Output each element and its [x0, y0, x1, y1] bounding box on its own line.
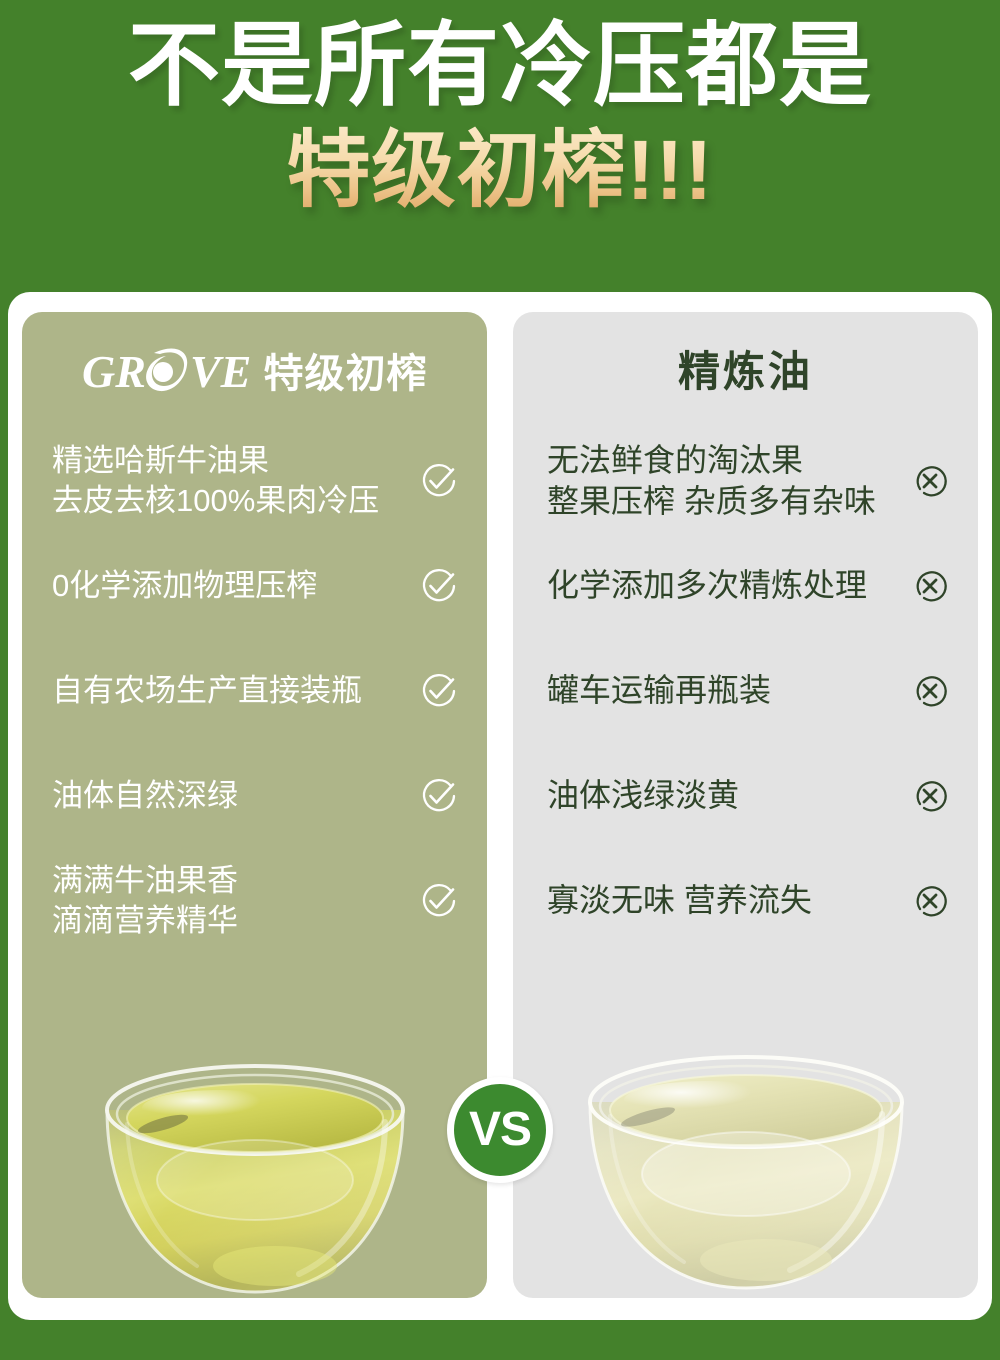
panel-left-title: 特级初榨 — [264, 341, 428, 399]
feature-row: 无法鲜食的淘汰果 整果压榨 杂质多有杂味 — [547, 428, 952, 533]
feature-row: 油体自然深绿 — [52, 743, 461, 848]
x-circle-icon — [908, 669, 952, 713]
check-circle-icon — [417, 669, 461, 713]
feature-text: 满满牛油果香 滴滴营养精华 — [52, 861, 238, 940]
headline-block: 不是所有冷压都是 特级初榨!!! — [0, 0, 1000, 217]
panel-refined-oil: 精炼油 无法鲜食的淘汰果 整果压榨 杂质多有杂味 化学添加多次精炼处理 — [513, 312, 978, 1298]
x-circle-icon — [908, 459, 952, 503]
bowl-area-right — [513, 1028, 978, 1298]
feature-text: 油体浅绿淡黄 — [547, 775, 739, 816]
pale-refined-oil-bowl — [566, 1042, 926, 1298]
feature-row: 自有农场生产直接装瓶 — [52, 638, 461, 743]
svg-text:VE: VE — [190, 346, 251, 397]
headline-line-1: 不是所有冷压都是 — [0, 14, 1000, 119]
bowl-area-left — [22, 1028, 487, 1298]
feature-row: 油体浅绿淡黄 — [547, 743, 952, 848]
x-circle-icon — [908, 774, 952, 818]
feature-row: 满满牛油果香 滴滴营养精华 — [52, 848, 461, 953]
x-circle-icon — [908, 879, 952, 923]
feature-list-right: 无法鲜食的淘汰果 整果压榨 杂质多有杂味 化学添加多次精炼处理 — [513, 424, 978, 1028]
versus-badge: VS — [447, 1077, 553, 1183]
feature-text: 0化学添加物理压榨 — [52, 566, 317, 606]
feature-row: 寡淡无味 营养流失 — [547, 848, 952, 953]
panel-extra-virgin: GR VE 特级初榨 精选哈斯牛油果 去皮去核100%果肉冷压 — [22, 312, 487, 1298]
panel-left-header: GR VE 特级初榨 — [22, 312, 487, 424]
green-olive-oil-bowl — [85, 1052, 425, 1298]
panel-right-title: 精炼油 — [678, 338, 813, 399]
check-circle-icon — [417, 564, 461, 608]
feature-text: 化学添加多次精炼处理 — [547, 565, 867, 606]
headline-line-2: 特级初榨!!! — [0, 123, 1000, 217]
brand-row: GR VE 特级初榨 — [82, 341, 428, 399]
feature-text: 油体自然深绿 — [52, 776, 238, 816]
check-circle-icon — [417, 774, 461, 818]
feature-text: 无法鲜食的淘汰果 整果压榨 杂质多有杂味 — [547, 440, 876, 522]
feature-text: 寡淡无味 营养流失 — [547, 880, 812, 921]
svg-text:GR: GR — [82, 346, 146, 397]
feature-row: 精选哈斯牛油果 去皮去核100%果肉冷压 — [52, 428, 461, 533]
feature-text: 自有农场生产直接装瓶 — [52, 671, 362, 711]
x-circle-icon — [908, 564, 952, 608]
check-circle-icon — [417, 879, 461, 923]
feature-row: 化学添加多次精炼处理 — [547, 533, 952, 638]
grove-logo: GR VE — [82, 341, 252, 399]
feature-row: 0化学添加物理压榨 — [52, 533, 461, 638]
panel-right-header: 精炼油 — [513, 312, 978, 424]
feature-list-left: 精选哈斯牛油果 去皮去核100%果肉冷压 0化学添加物理压榨 — [22, 424, 487, 1028]
feature-row: 罐车运输再瓶装 — [547, 638, 952, 743]
feature-text: 罐车运输再瓶装 — [547, 670, 771, 711]
versus-label: VS — [469, 1102, 531, 1157]
feature-text: 精选哈斯牛油果 去皮去核100%果肉冷压 — [52, 441, 379, 520]
check-circle-icon — [417, 459, 461, 503]
